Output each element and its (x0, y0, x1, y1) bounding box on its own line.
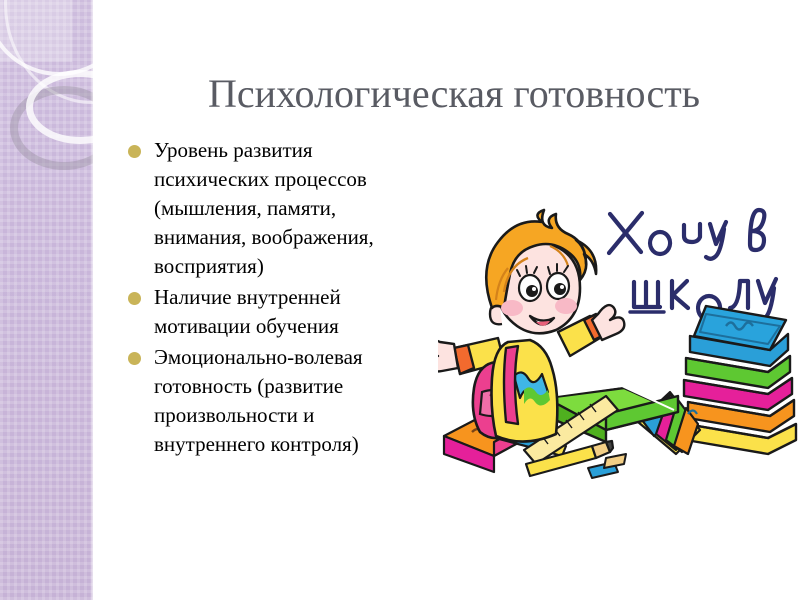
bullet-text: Наличие внутренней мотивации обучения (154, 283, 428, 341)
bullet-dot-icon (128, 145, 141, 158)
book-stack (684, 306, 796, 454)
handwritten-caption (609, 210, 776, 321)
page-title: Психологическая готовность (120, 71, 788, 117)
slide: Психологическая готовность Уровень разви… (0, 0, 800, 600)
list-item: Эмоционально-волевая готовность (развити… (128, 343, 428, 459)
decorative-sidebar (0, 0, 93, 600)
illustration-boy-school (438, 196, 800, 482)
bullet-list: Уровень развития психических процессов (… (128, 136, 428, 461)
list-item: Уровень развития психических процессов (… (128, 136, 428, 281)
bullet-dot-icon (128, 352, 141, 365)
sidebar-edge (90, 0, 93, 600)
bullet-text: Уровень развития психических процессов (… (154, 136, 428, 281)
list-item: Наличие внутренней мотивации обучения (128, 283, 428, 341)
bullet-text: Эмоционально-волевая готовность (развити… (154, 343, 428, 459)
bullet-dot-icon (128, 292, 141, 305)
